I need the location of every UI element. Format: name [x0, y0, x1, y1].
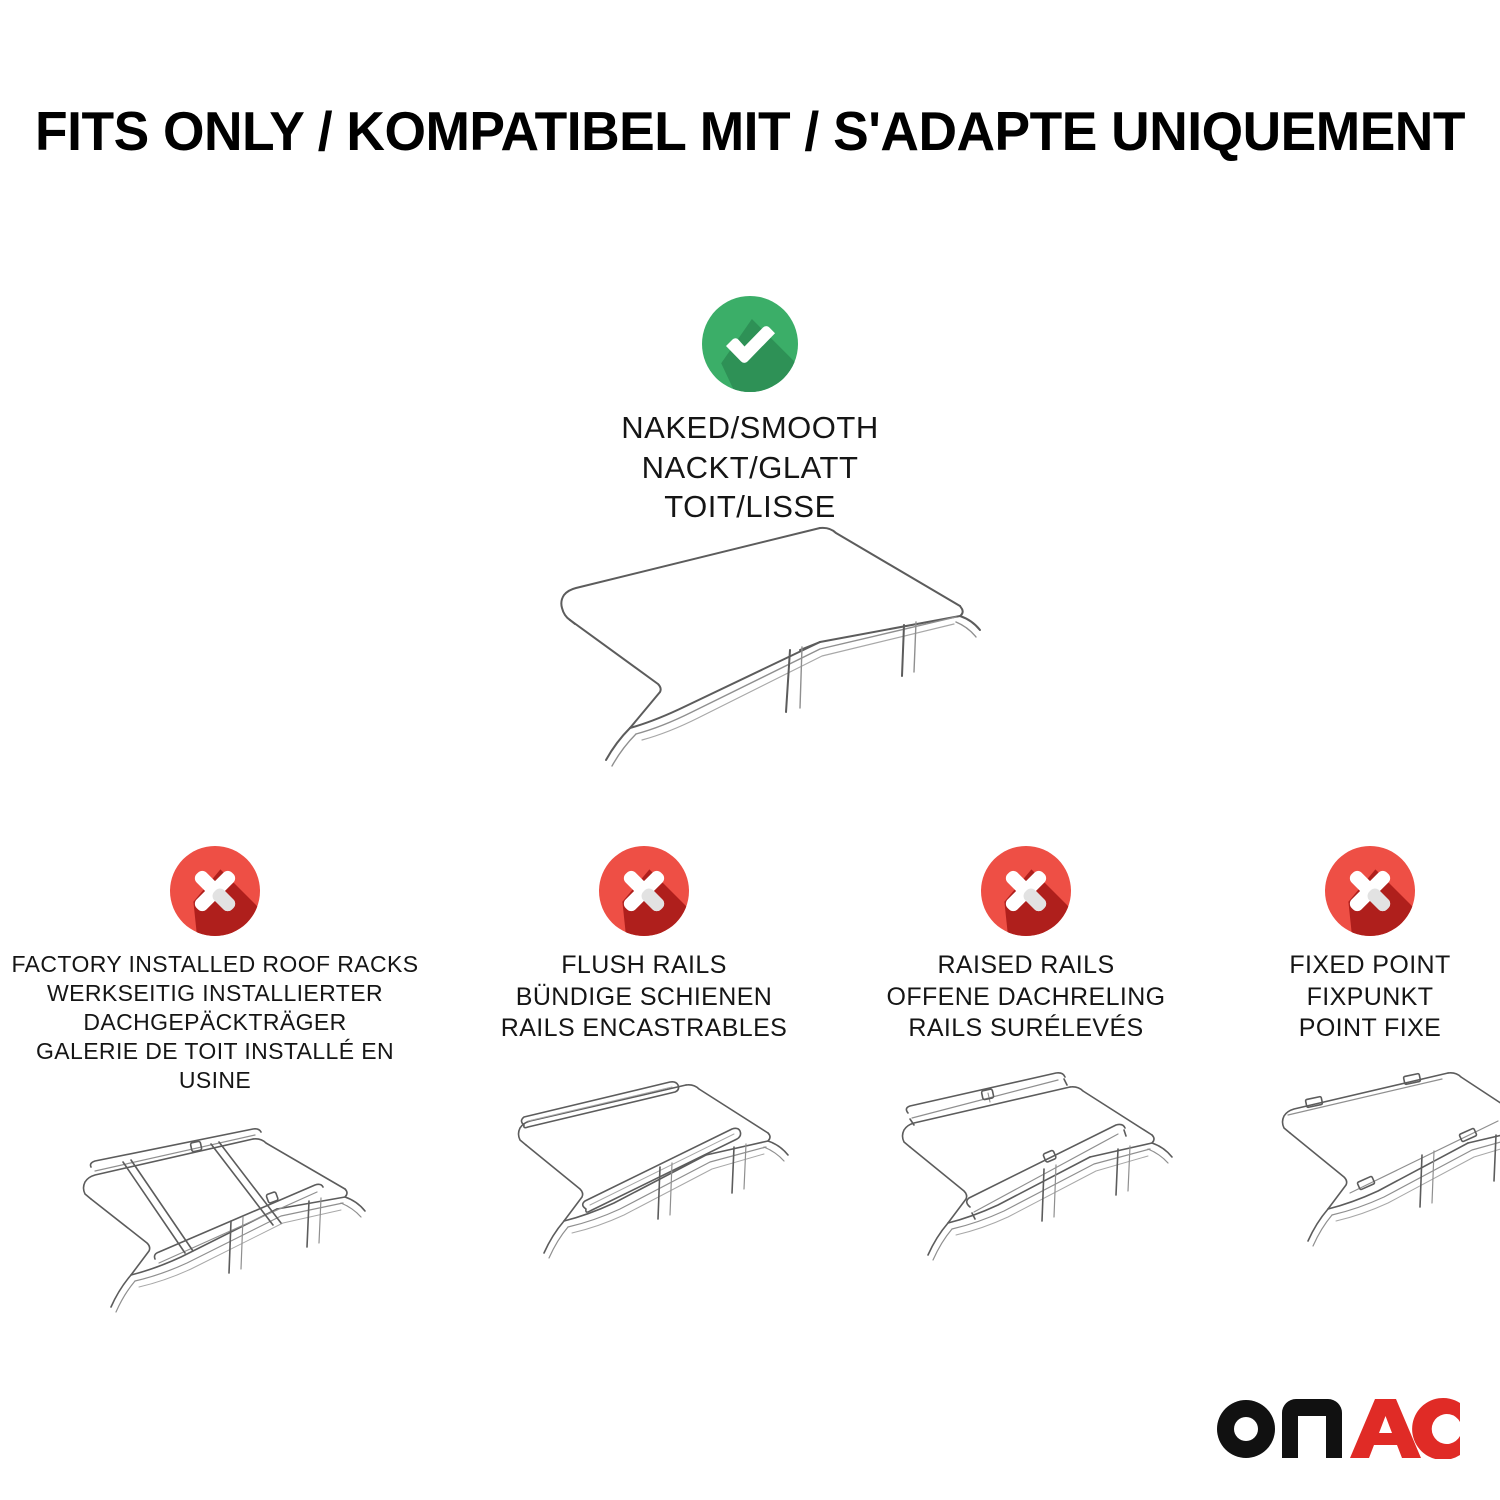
- caption-de-1: WERKSEITIG INSTALLIERTER: [0, 979, 430, 1008]
- caption-de-1: BÜNDIGE SCHIENEN: [456, 982, 832, 1014]
- logo-letter-m: [1282, 1399, 1342, 1458]
- check-icon: [702, 296, 798, 392]
- car-roof-naked-smooth-illustration: [0, 516, 1500, 801]
- incompatible-caption: FACTORY INSTALLED ROOF RACKS WERKSEITIG …: [0, 950, 430, 1095]
- caption-fr: POINT FIXE: [1242, 1013, 1498, 1045]
- cross-icon-glyph: [599, 846, 689, 936]
- incompatible-item-raised-rails: RAISED RAILS OFFENE DACHRELING RAILS SUR…: [838, 846, 1214, 1283]
- caption-fr: GALERIE DE TOIT INSTALLÉ EN USINE: [0, 1037, 430, 1095]
- cross-icon: [1325, 846, 1415, 936]
- caption-de-2: DACHGEPÄCKTRÄGER: [0, 1008, 430, 1037]
- caption-en: FLUSH RAILS: [456, 950, 832, 982]
- incompatible-item-fixed-point: FIXED POINT FIXPUNKT POINT FIXE: [1242, 846, 1498, 1283]
- compatible-caption-de: NACKT/GLATT: [540, 448, 960, 488]
- compatible-caption-en: NAKED/SMOOTH: [540, 408, 960, 448]
- incompatible-caption: RAISED RAILS OFFENE DACHRELING RAILS SUR…: [838, 950, 1214, 1045]
- check-icon-glyph: [702, 296, 798, 392]
- omac-logo: OMAC: [1210, 1392, 1462, 1462]
- caption-de-1: OFFENE DACHRELING: [838, 982, 1214, 1014]
- cross-icon: [170, 846, 260, 936]
- cross-icon: [599, 846, 689, 936]
- caption-en: RAISED RAILS: [838, 950, 1214, 982]
- cross-icon-glyph: [170, 846, 260, 936]
- compatible-section: NAKED/SMOOTH NACKT/GLATT TOIT/LISSE: [0, 296, 1500, 527]
- car-roof-factory-rack-illustration: [0, 1113, 430, 1333]
- car-roof-raised-rails-illustration: [838, 1063, 1214, 1283]
- logo-letter-a: [1350, 1399, 1421, 1458]
- logo-letter-o: [1217, 1400, 1275, 1458]
- page-title: FITS ONLY / KOMPATIBEL MIT / S'ADAPTE UN…: [23, 103, 1478, 161]
- incompatible-section: FACTORY INSTALLED ROOF RACKS WERKSEITIG …: [0, 846, 1500, 1333]
- caption-en: FIXED POINT: [1242, 950, 1498, 982]
- cross-icon: [981, 846, 1071, 936]
- car-roof-fixed-point-illustration: [1242, 1063, 1498, 1283]
- cross-icon-glyph: [1325, 846, 1415, 936]
- caption-en: FACTORY INSTALLED ROOF RACKS: [0, 950, 430, 979]
- car-roof-flush-rails-illustration: [456, 1063, 832, 1283]
- incompatible-item-factory-rack: FACTORY INSTALLED ROOF RACKS WERKSEITIG …: [0, 846, 430, 1333]
- logo-letter-c: [1412, 1398, 1460, 1459]
- cross-icon-glyph: [981, 846, 1071, 936]
- caption-fr: RAILS SURÉLEVÉS: [838, 1013, 1214, 1045]
- incompatible-item-flush-rails: FLUSH RAILS BÜNDIGE SCHIENEN RAILS ENCAS…: [456, 846, 832, 1283]
- caption-fr: RAILS ENCASTRABLES: [456, 1013, 832, 1045]
- incompatible-caption: FLUSH RAILS BÜNDIGE SCHIENEN RAILS ENCAS…: [456, 950, 832, 1045]
- compatible-caption: NAKED/SMOOTH NACKT/GLATT TOIT/LISSE: [540, 408, 960, 527]
- caption-de-1: FIXPUNKT: [1242, 982, 1498, 1014]
- incompatible-caption: FIXED POINT FIXPUNKT POINT FIXE: [1242, 950, 1498, 1045]
